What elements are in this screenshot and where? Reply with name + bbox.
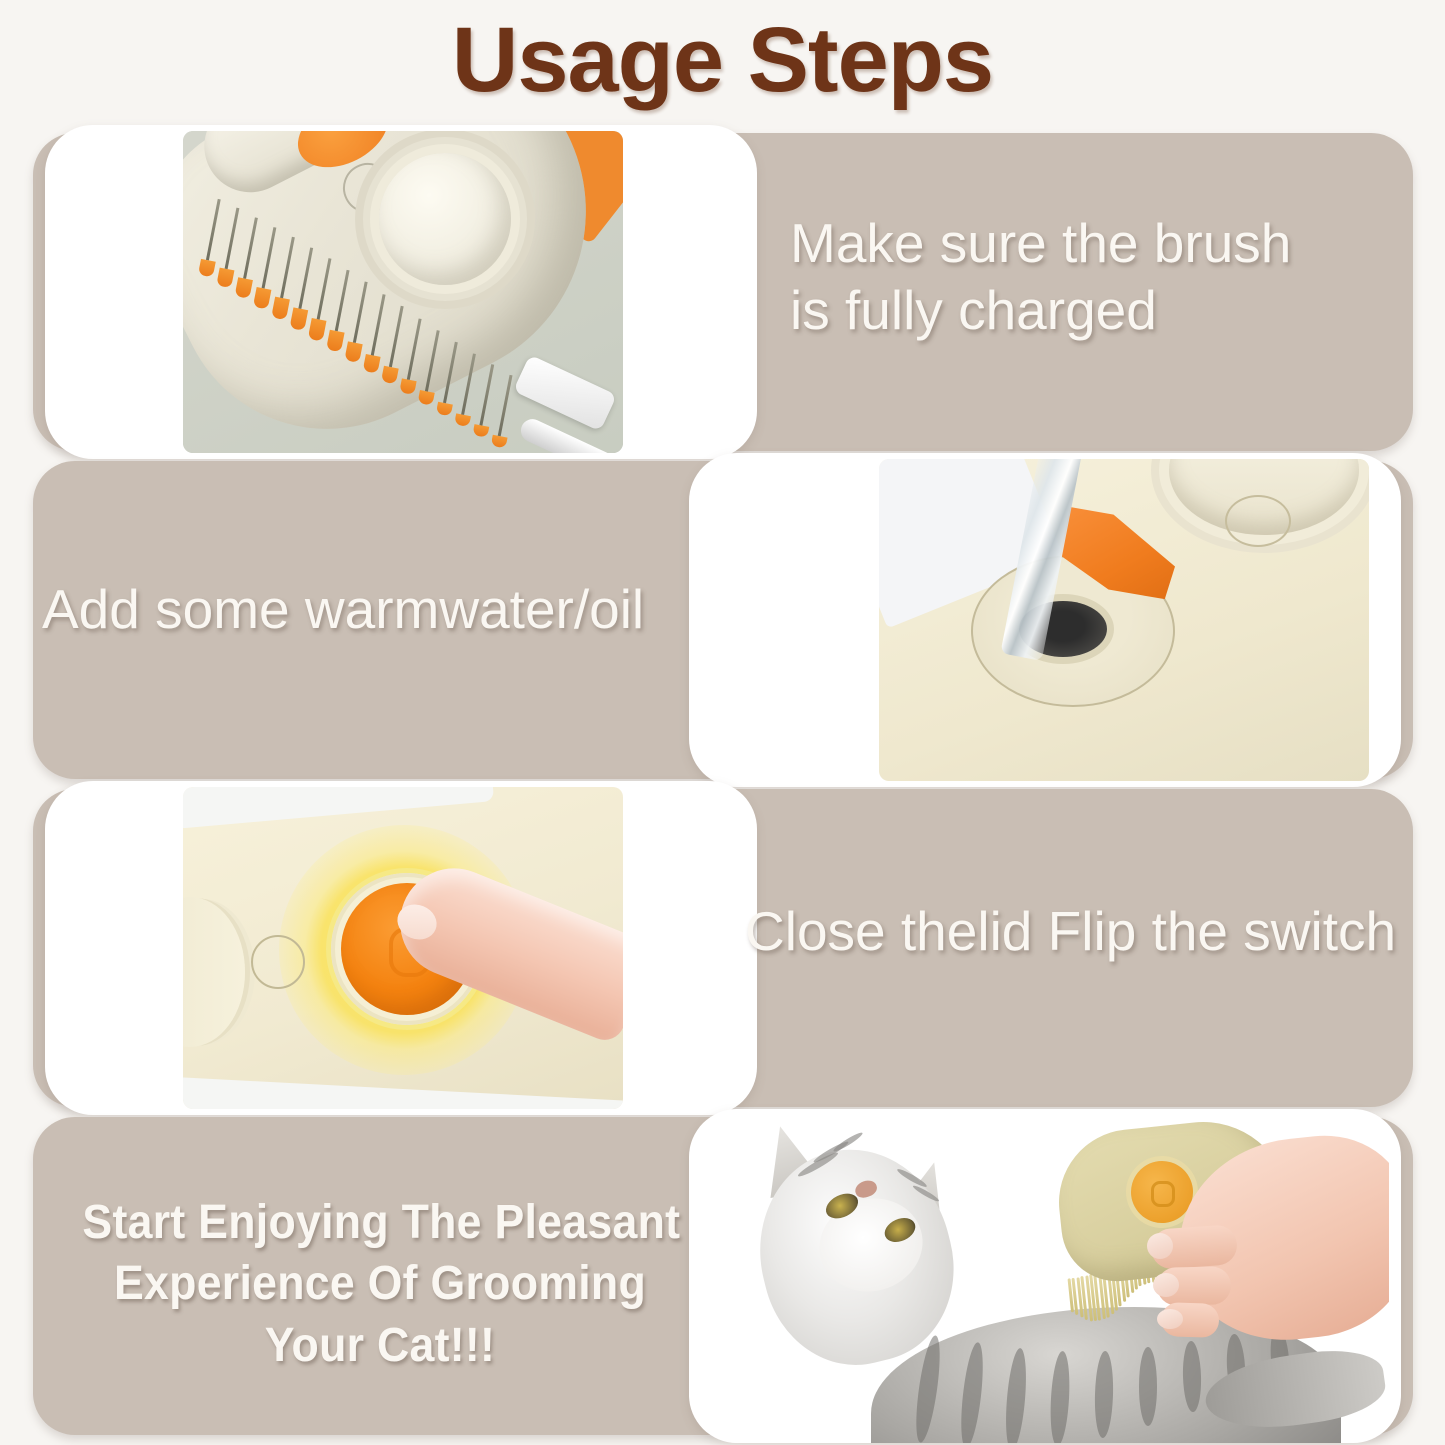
step-4-caption-line-1: Start Enjoying The Pleasant [82,1192,677,1253]
step-3-caption-line-1: Close thelid Flip the switch [745,898,1405,965]
bristle [344,342,362,363]
step-4-caption: Start Enjoying The Pleasant Experience O… [82,1192,677,1376]
step-4-photo-panel [689,1109,1401,1443]
bristle [271,297,290,320]
step-2-caption: Add some warmwater/oil [42,576,702,643]
step-3-photo-panel [45,781,757,1115]
brush-charging-photo [183,131,623,453]
cat-stripe [1139,1347,1157,1425]
step-2-photo-panel [689,453,1401,787]
step-3-caption: Close thelid Flip the switch [745,898,1405,965]
usage-steps-infographic: Usage Steps Make sure the brush is fully… [0,0,1445,1445]
step-4-caption-line-2: Experience Of Grooming [82,1253,677,1314]
bristle [326,330,345,352]
bristle [216,268,234,288]
bristle [289,307,308,330]
bristle [399,378,416,395]
step-2-caption-line-1: Add some warmwater/oil [42,576,702,643]
background-strip-bottom [183,1077,623,1109]
fingernail [1157,1309,1183,1329]
page-title: Usage Steps [0,8,1445,113]
power-icon [1151,1181,1175,1207]
background-strip-top [183,787,494,829]
brush-edge-shape [183,897,245,1047]
bristle [472,424,489,438]
step-1-photo-panel [45,125,757,459]
power-button-photo [183,787,623,1109]
indicator-circle-shape [1225,495,1291,547]
water-fill-photo [879,459,1369,781]
bristle [436,402,453,416]
bristle [363,354,381,374]
step-1-caption-line-1: Make sure the brush [790,210,1390,277]
step-1-caption: Make sure the brush is fully charged [790,210,1390,344]
bristle [381,366,399,384]
step-4-caption-line-3: Your Cat!!! [82,1315,677,1376]
bristle [253,287,272,310]
bristle [308,318,327,341]
fingernail [1147,1233,1173,1259]
cat-grooming-photo [699,1109,1389,1443]
bristle [198,259,216,278]
step-1-caption-line-2: is fully charged [790,277,1390,344]
indicator-circle-shape [251,935,305,989]
bristle [418,390,435,405]
fingernail [1153,1273,1179,1297]
bristle [454,413,471,427]
bristle [235,277,253,299]
bristle [491,434,508,448]
